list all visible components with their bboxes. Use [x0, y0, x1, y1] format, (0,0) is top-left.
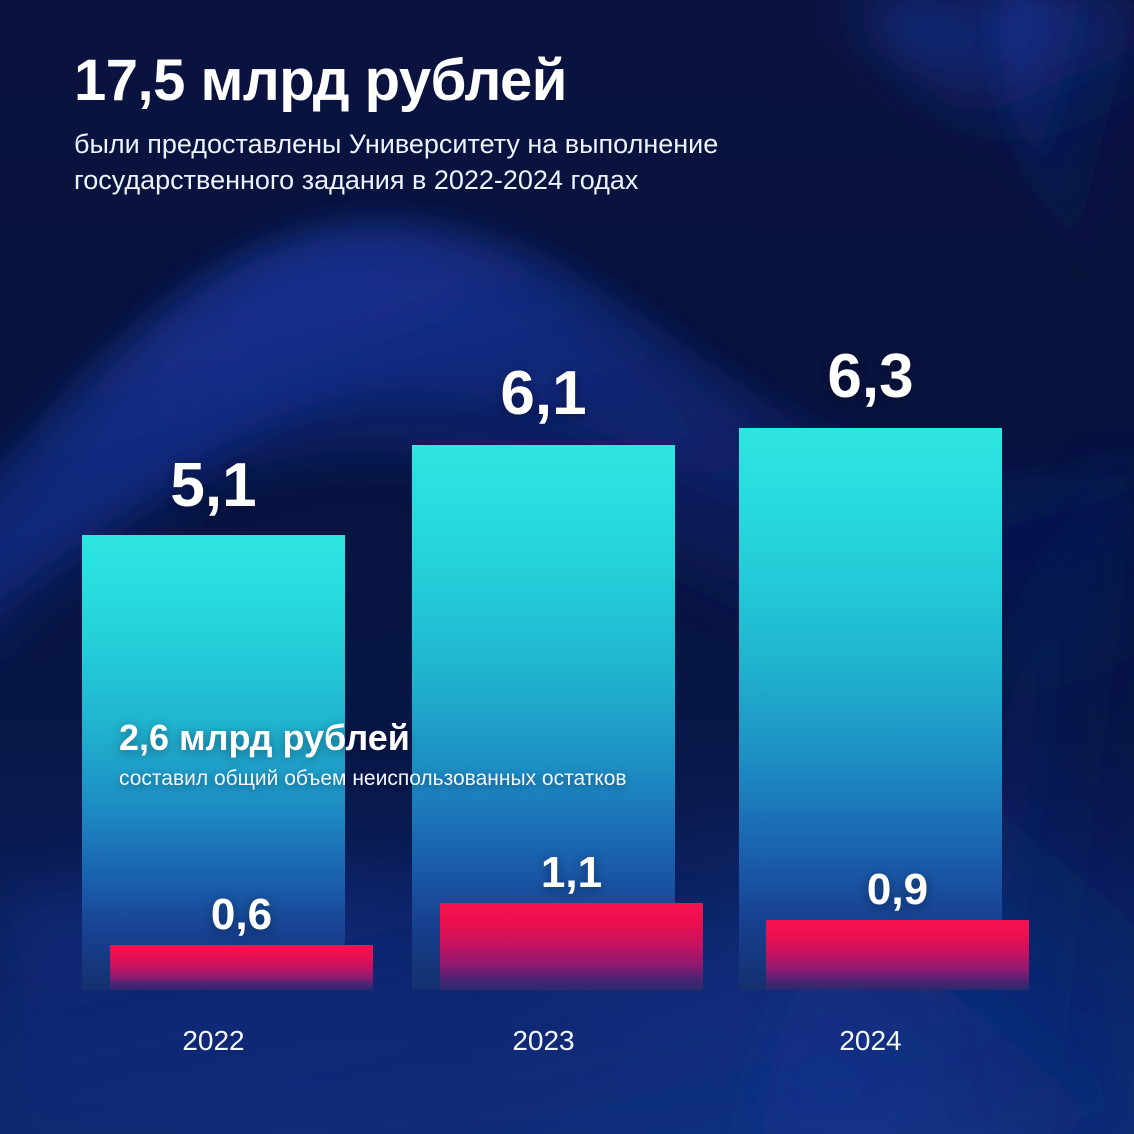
bar-red-2022 — [110, 945, 373, 990]
year-label-2022: 2022 — [82, 1027, 345, 1055]
subheadline-line-2: государственного задания в 2022-2024 год… — [74, 162, 904, 198]
bar-red-2024 — [766, 920, 1029, 990]
callout: 2,6 млрд рублей составил общий объем неи… — [119, 718, 627, 791]
year-label-2024: 2024 — [739, 1027, 1002, 1055]
infographic-canvas: 17,5 млрд рублей были предоставлены Унив… — [0, 0, 1134, 1134]
bar-value-remainder-2023: 1,1 — [440, 851, 703, 895]
callout-title: 2,6 млрд рублей — [119, 718, 627, 758]
bar-value-total-2023: 6,1 — [412, 363, 675, 425]
bar-value-remainder-2024: 0,9 — [766, 868, 1029, 912]
bar-value-total-2022: 5,1 — [82, 455, 345, 517]
year-label-2023: 2023 — [412, 1027, 675, 1055]
bar-value-total-2024: 6,3 — [739, 346, 1002, 408]
header: 17,5 млрд рублей были предоставлены Унив… — [74, 52, 974, 199]
headline: 17,5 млрд рублей — [74, 52, 974, 110]
bar-value-remainder-2022: 0,6 — [110, 893, 373, 937]
subheadline-line-1: были предоставлены Университету на выпол… — [74, 126, 904, 162]
callout-subtitle: составил общий объем неиспользованных ос… — [119, 766, 627, 791]
bar-red-2023 — [440, 903, 703, 990]
subheadline: были предоставлены Университету на выпол… — [74, 126, 904, 199]
